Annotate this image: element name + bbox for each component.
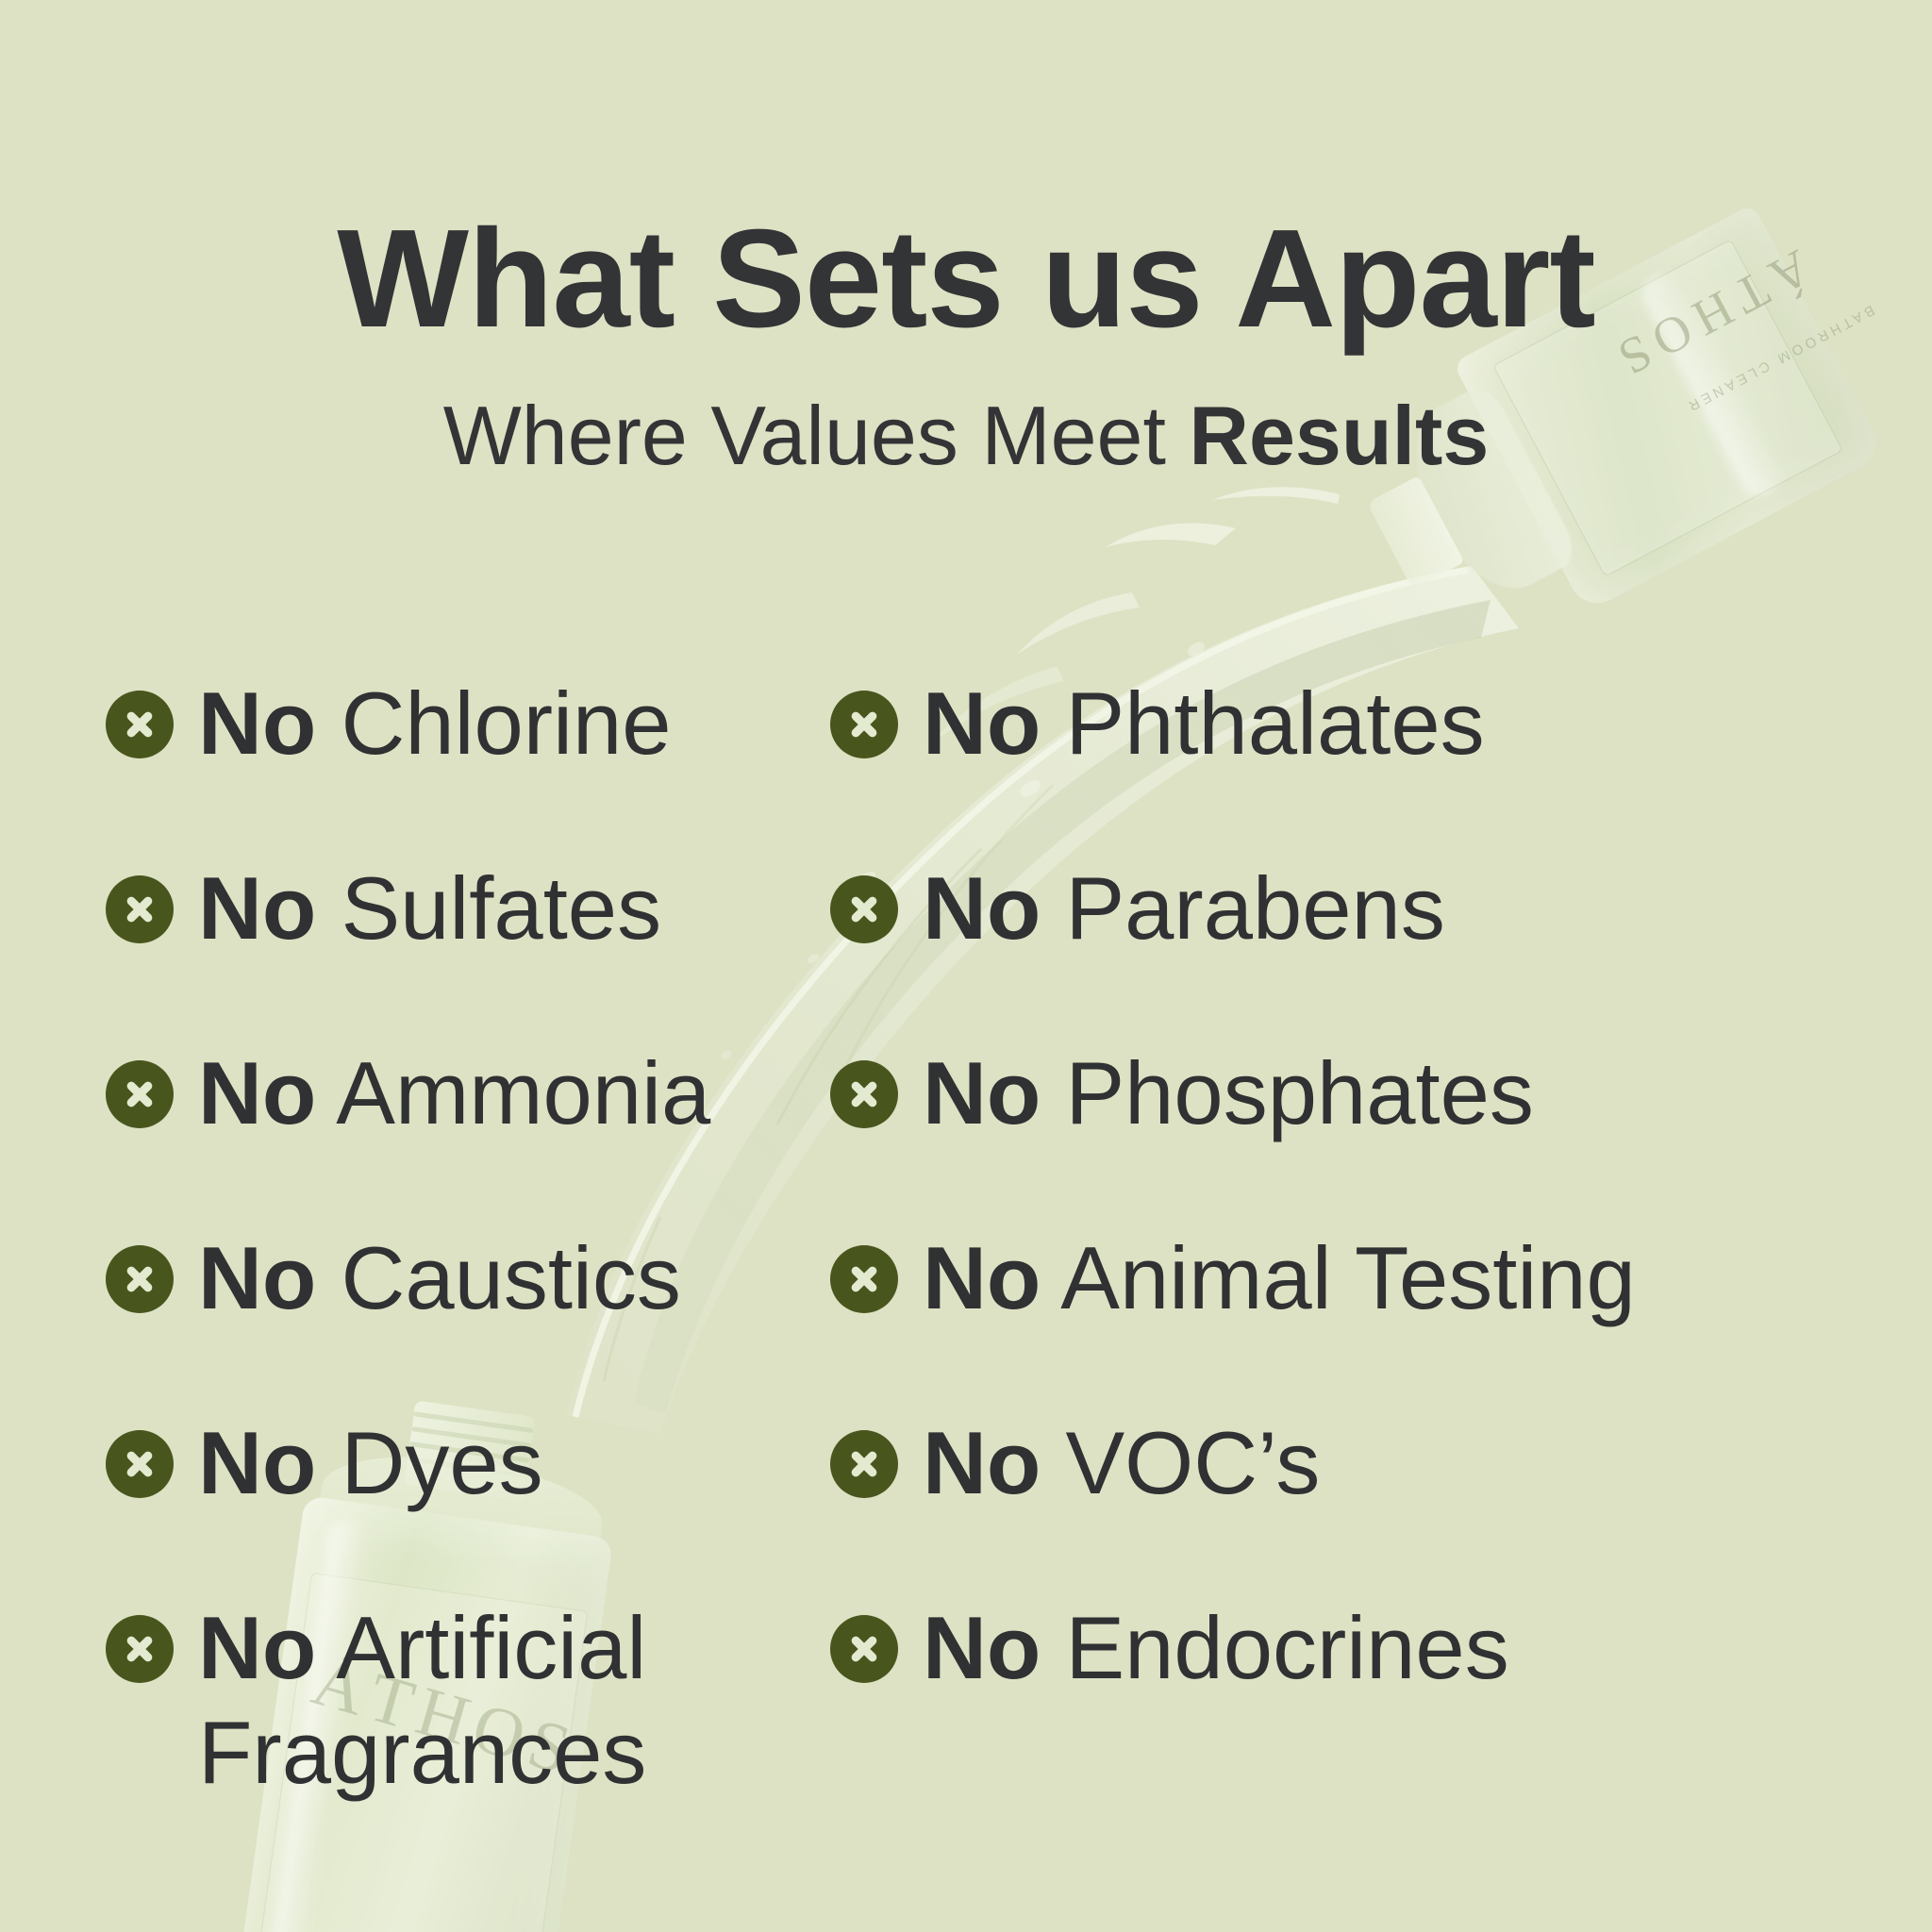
benefit-item-phthalates: No Phthalates [830,672,1932,857]
x-circle-icon [106,691,174,758]
benefit-label: No Endocrines [923,1596,1509,1701]
benefit-item-phosphates: No Phosphates [830,1041,1932,1226]
benefits-column-left: No Chlorine No Sulfates No Ammonia No Ca… [0,672,783,1806]
x-circle-icon [830,875,898,943]
benefit-item-endocrines: No Endocrines [830,1596,1932,1781]
benefit-item-sulfates: No Sulfates [106,857,783,1041]
x-circle-icon [106,1060,174,1128]
benefit-prefix: No [923,1228,1041,1327]
benefit-prefix: No [923,1413,1041,1512]
benefit-label: No Parabens [923,857,1445,961]
benefit-label: No Sulfates [198,857,661,961]
benefits-grid: No Chlorine No Sulfates No Ammonia No Ca… [0,672,1932,1806]
x-circle-icon [830,1245,898,1313]
benefit-value: VOC’s [1065,1413,1320,1512]
benefit-value: Ammonia [336,1043,710,1142]
x-circle-icon [106,1615,174,1683]
x-circle-icon [830,1430,898,1498]
benefit-value: Dyes [341,1413,542,1512]
benefit-item-caustics: No Caustics [106,1226,783,1411]
benefit-label: No Dyes [198,1411,543,1516]
benefit-value: Parabens [1065,858,1444,958]
benefit-label: No Phosphates [923,1041,1534,1146]
benefit-value: Caustics [341,1228,680,1327]
x-circle-icon [106,1245,174,1313]
benefit-item-ammonia: No Ammonia [106,1041,783,1226]
benefit-prefix: No [198,1228,316,1327]
benefit-item-animal-testing: No Animal Testing [830,1226,1932,1411]
benefit-label: No Animal Testing [923,1226,1636,1331]
page-subtitle: Where Values Meet Results [0,394,1932,477]
benefit-label: No Ammonia [198,1041,710,1146]
header: What Sets us Apart Where Values Meet Res… [0,0,1932,477]
benefits-column-right: No Phthalates No Parabens No Phosphates … [783,672,1932,1806]
benefit-prefix: No [198,1413,316,1512]
benefit-item-dyes: No Dyes [106,1411,783,1596]
benefit-item-vocs: No VOC’s [830,1411,1932,1596]
page-subtitle-emphasis: Results [1189,389,1489,482]
benefit-prefix: No [923,1598,1041,1697]
benefit-prefix: No [198,858,316,958]
page-title: What Sets us Apart [0,209,1932,349]
benefit-item-artificial-fragrances: No Artificial Fragrances [106,1596,783,1806]
benefit-prefix: No [198,674,316,773]
benefit-prefix: No [923,674,1041,773]
page-subtitle-regular: Where Values Meet [443,389,1190,482]
benefit-value: Phosphates [1065,1043,1533,1142]
benefit-label: No Artificial Fragrances [198,1596,783,1806]
benefit-item-chlorine: No Chlorine [106,672,783,857]
x-circle-icon [830,691,898,758]
benefit-prefix: No [923,858,1041,958]
benefit-item-parabens: No Parabens [830,857,1932,1041]
x-circle-icon [106,1430,174,1498]
benefit-label: No Phthalates [923,672,1485,776]
benefit-value: Sulfates [341,858,661,958]
benefit-prefix: No [923,1043,1041,1142]
bottle-neck [1367,475,1465,590]
x-circle-icon [830,1615,898,1683]
benefit-value: Phthalates [1065,674,1484,773]
benefit-label: No Chlorine [198,672,672,776]
benefit-value: Animal Testing [1060,1228,1636,1327]
benefit-prefix: No [198,1043,316,1142]
benefit-value: Chlorine [341,674,671,773]
x-circle-icon [830,1060,898,1128]
benefit-label: No VOC’s [923,1411,1320,1516]
benefit-label: No Caustics [198,1226,681,1331]
benefit-value: Endocrines [1065,1598,1508,1697]
benefit-prefix: No [198,1598,316,1697]
x-circle-icon [106,875,174,943]
